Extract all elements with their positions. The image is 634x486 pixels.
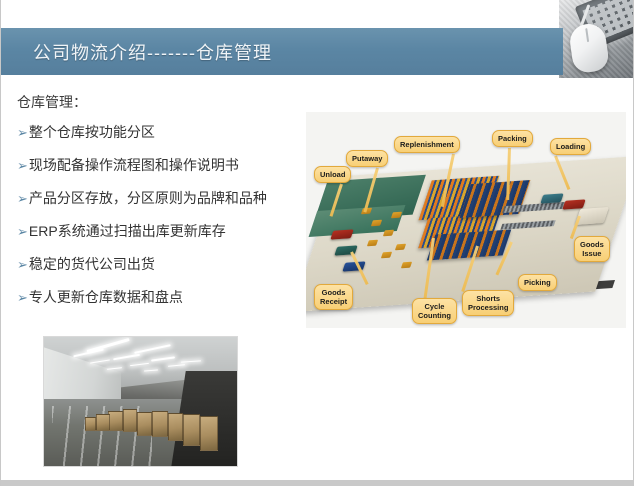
callout-label: Packing [492,130,533,147]
list-item-label: 稳定的货代公司出货 [29,256,155,272]
bullet-arrow-icon: ➢ [17,290,28,305]
list-item-label: 现场配备操作流程图和操作说明书 [29,157,239,173]
section-heading: 仓库管理： [17,92,87,112]
callout-label: Goods Receipt [314,284,353,310]
callout-label: Cycle Counting [412,298,457,324]
bullet-arrow-icon: ➢ [17,158,28,173]
callout-label: Goods Issue [574,236,610,262]
bullet-arrow-icon: ➢ [17,224,28,239]
bullet-arrow-icon: ➢ [17,125,28,140]
callout-label: Putaway [346,150,388,167]
list-item: ➢专人更新仓库数据和盘点 [17,287,317,308]
ceiling-lights [56,342,226,394]
list-item: ➢现场配备操作流程图和操作说明书 [17,155,317,176]
callout-label: Shorts Processing [462,290,514,316]
list-item-label: 整个仓库按功能分区 [29,124,155,140]
page-title: 公司物流介绍-------仓库管理 [33,38,553,68]
callout-label: Unload [314,166,351,183]
list-item: ➢产品分区存放，分区原则为品牌和品种 [17,188,317,209]
bullet-arrow-icon: ➢ [17,257,28,272]
bullet-arrow-icon: ➢ [17,191,28,206]
bottom-strip [1,480,634,486]
warehouse-process-diagram: UnloadPutawayReplenishmentPackingLoading… [306,112,626,328]
callout-label: Replenishment [394,136,460,153]
list-item: ➢ERP系统通过扫描出库更新库存 [17,221,317,242]
list-item: ➢整个仓库按功能分区 [17,122,317,143]
computer-mouse-keyboard-photo [559,0,633,78]
list-item: ➢稳定的货代公司出货 [17,254,317,275]
list-item-label: ERP系统通过扫描出库更新库存 [29,223,226,239]
warehouse-interior-photo [44,337,237,466]
list-item-label: 产品分区存放，分区原则为品牌和品种 [29,190,267,206]
slide-canvas: 公司物流介绍-------仓库管理 仓库管理： ➢整个仓库按功能分区 ➢现场配备… [0,0,634,486]
callout-label: Loading [550,138,591,155]
list-item-label: 专人更新仓库数据和盘点 [29,289,183,305]
callout-label: Picking [518,274,557,291]
bullet-list: ➢整个仓库按功能分区 ➢现场配备操作流程图和操作说明书 ➢产品分区存放，分区原则… [17,122,317,320]
